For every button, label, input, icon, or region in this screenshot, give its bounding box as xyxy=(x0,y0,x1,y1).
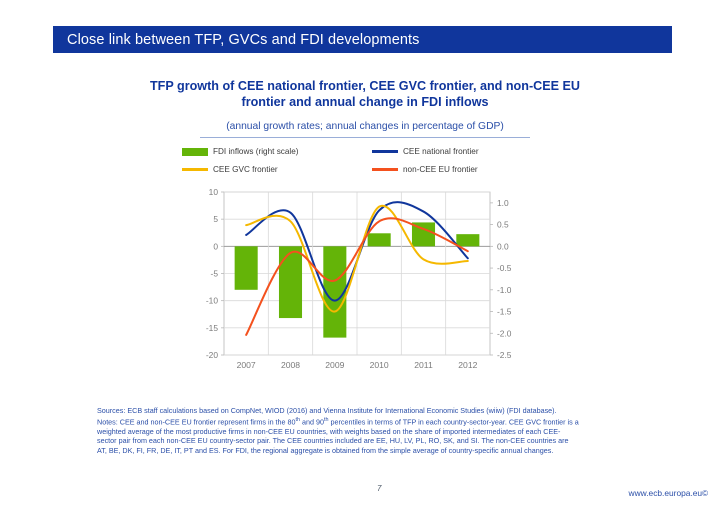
axis-label-left: 5 xyxy=(213,214,218,224)
chart-svg: 1050-5-10-15-201.00.50.0-0.5-1.0-1.5-2.0… xyxy=(194,184,524,379)
legend-swatch-bar-icon xyxy=(182,148,208,156)
axis-label-x: 2011 xyxy=(414,360,433,370)
footnote-text: percentiles in terms of TFP in each coun… xyxy=(329,417,579,426)
bar-fdi-inflows xyxy=(235,246,258,289)
axis-label-right: -2.5 xyxy=(497,350,512,360)
axis-label-left: -15 xyxy=(206,323,218,333)
axis-label-left: 10 xyxy=(209,187,219,197)
footnote-notes-line-3: sector pair from each non-CEE EU country… xyxy=(97,436,717,446)
legend-swatch-line-icon xyxy=(372,150,398,153)
footnote-text: Notes: CEE and non-CEE EU frontier repre… xyxy=(97,417,296,426)
legend-label: FDI inflows (right scale) xyxy=(213,147,299,156)
footnote-sources: Sources: ECB staff calculations based on… xyxy=(97,406,717,416)
footnote-notes-line-1: Notes: CEE and non-CEE EU frontier repre… xyxy=(97,416,717,427)
axis-label-x: 2012 xyxy=(458,360,477,370)
axis-label-right: -1.0 xyxy=(497,285,512,295)
axis-label-left: -10 xyxy=(206,296,218,306)
axis-label-left: 0 xyxy=(213,241,218,251)
bar-fdi-inflows xyxy=(279,246,302,318)
axis-label-right: 0.5 xyxy=(497,220,509,230)
subtitle-divider xyxy=(200,137,530,138)
axis-label-left: -5 xyxy=(211,269,219,279)
footnote-notes-line-2: weighted average of the most productive … xyxy=(97,427,717,437)
footnote-text: and 90 xyxy=(300,417,324,426)
slide-title-text: Close link between TFP, GVCs and FDI dev… xyxy=(67,32,420,48)
legend-label: CEE GVC frontier xyxy=(213,165,278,174)
axis-label-right: 0.0 xyxy=(497,241,509,251)
chart-plot-area: 1050-5-10-15-201.00.50.0-0.5-1.0-1.5-2.0… xyxy=(194,184,524,379)
legend-item-fdi-inflows: FDI inflows (right scale) xyxy=(182,147,372,156)
legend-item-cee-national-frontier: CEE national frontier xyxy=(372,147,562,156)
axis-label-right: -0.5 xyxy=(497,263,512,273)
axis-label-right: -2.0 xyxy=(497,328,512,338)
chart-subtitle: (annual growth rates; annual changes in … xyxy=(120,121,610,132)
chart-title: TFP growth of CEE national frontier, CEE… xyxy=(130,78,600,110)
slide-canvas: Close link between TFP, GVCs and FDI dev… xyxy=(0,0,726,521)
axis-label-x: 2008 xyxy=(281,360,300,370)
legend-item-cee-gvc-frontier: CEE GVC frontier xyxy=(182,165,372,174)
chart-footnotes: Sources: ECB staff calculations based on… xyxy=(97,406,717,455)
axis-label-right: 1.0 xyxy=(497,198,509,208)
footnote-notes-line-4: AT, BE, DK, FI, FR, DE, IT, PT and ES. F… xyxy=(97,446,717,456)
copyright-icon: © xyxy=(702,489,708,498)
footer-url[interactable]: www.ecb.europa.eu© xyxy=(629,488,708,498)
axis-label-x: 2007 xyxy=(237,360,256,370)
legend-label: non-CEE EU frontier xyxy=(403,165,478,174)
axis-label-left: -20 xyxy=(206,350,218,360)
legend-item-non-cee-eu-frontier: non-CEE EU frontier xyxy=(372,165,562,174)
bar-fdi-inflows xyxy=(456,234,479,246)
axis-label-right: -1.5 xyxy=(497,307,512,317)
axis-label-x: 2009 xyxy=(325,360,344,370)
page-number: 7 xyxy=(377,484,381,493)
chart-legend: FDI inflows (right scale) CEE national f… xyxy=(182,147,562,174)
legend-swatch-line-icon xyxy=(182,168,208,171)
axis-label-x: 2010 xyxy=(370,360,389,370)
footer-url-text: www.ecb.europa.eu xyxy=(629,488,703,498)
slide-title-bar: Close link between TFP, GVCs and FDI dev… xyxy=(53,26,672,53)
bar-fdi-inflows xyxy=(368,233,391,246)
legend-label: CEE national frontier xyxy=(403,147,479,156)
chart-container: TFP growth of CEE national frontier, CEE… xyxy=(120,78,610,379)
legend-swatch-line-icon xyxy=(372,168,398,171)
